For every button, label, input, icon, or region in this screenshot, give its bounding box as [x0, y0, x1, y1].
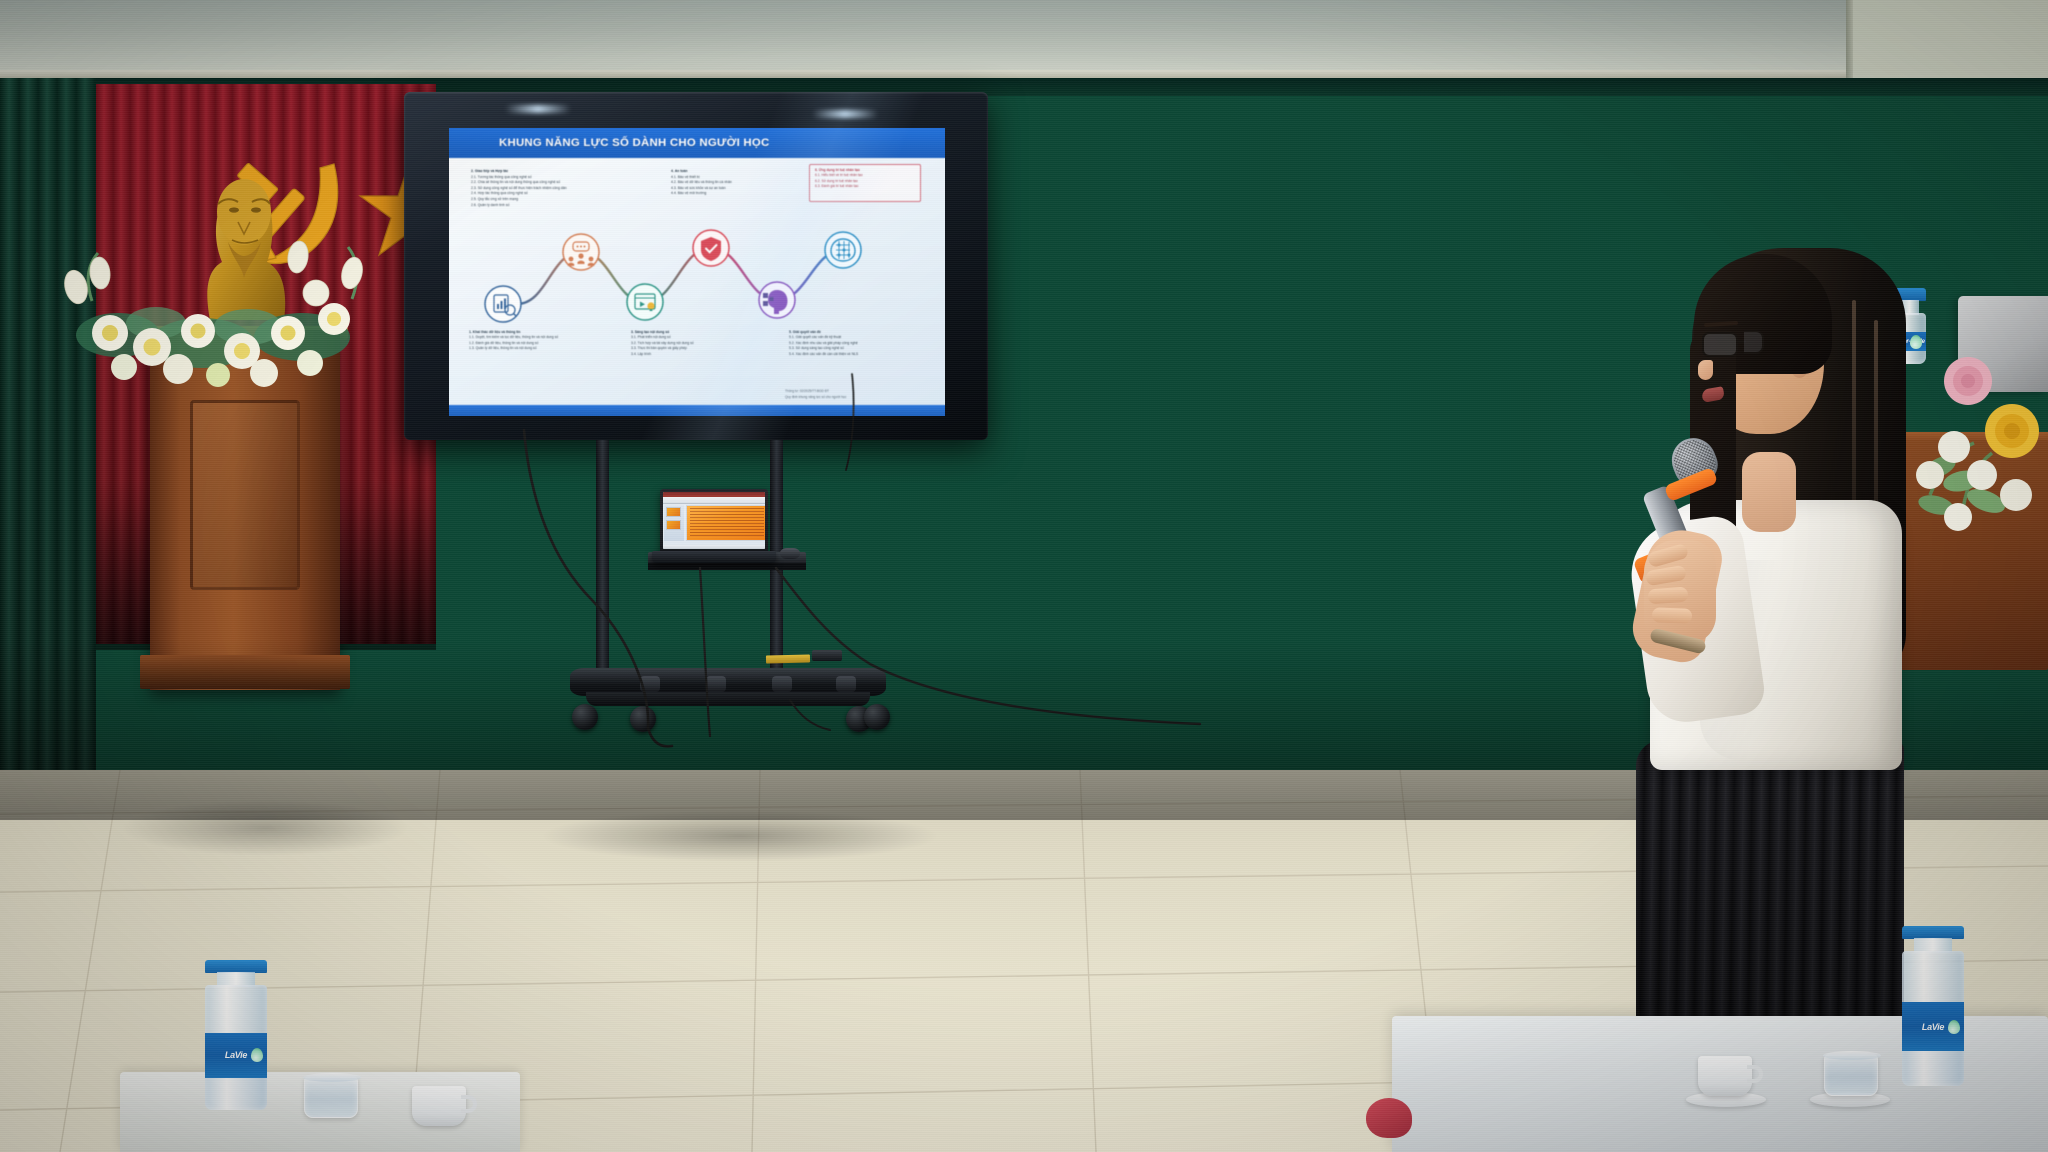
presenter-nose: [1698, 360, 1713, 380]
hand-finger: [1648, 587, 1689, 605]
water-bottle-right-table: LaVie: [1902, 926, 1964, 1086]
eyeglasses-right-lens: [1744, 330, 1764, 354]
tea-cup-right: [1698, 1056, 1752, 1096]
drinking-glass-right: [1824, 1054, 1878, 1096]
presenter-neck: [1742, 452, 1796, 532]
drinking-glass-left: [304, 1076, 358, 1118]
water-bottle-left-table: LaVie: [205, 960, 267, 1110]
bottle-body: LaVie: [205, 985, 267, 1110]
pink-object-on-table: [1366, 1098, 1412, 1138]
bottle-body: LaVie: [1902, 951, 1964, 1086]
bottle-brand-label: LaVie: [1902, 1002, 1964, 1051]
eyeglasses-left-lens: [1702, 332, 1738, 357]
water-drop-icon: [1910, 335, 1922, 349]
water-drop-icon: [251, 1048, 263, 1062]
hand-finger: [1652, 607, 1692, 623]
presentation-photo-scene: KHUNG NĂNG LỰC SỐ DÀNH CHO NGƯỜI HỌC 2. …: [0, 0, 2048, 1152]
bottle-brand-label: LaVie: [205, 1033, 267, 1078]
tea-cup-left: [412, 1086, 466, 1126]
water-drop-icon: [1948, 1020, 1960, 1034]
glass-rim: [303, 1073, 361, 1082]
rose-flower-arrangement: [1900, 355, 2048, 545]
glass-rim: [1823, 1051, 1881, 1060]
